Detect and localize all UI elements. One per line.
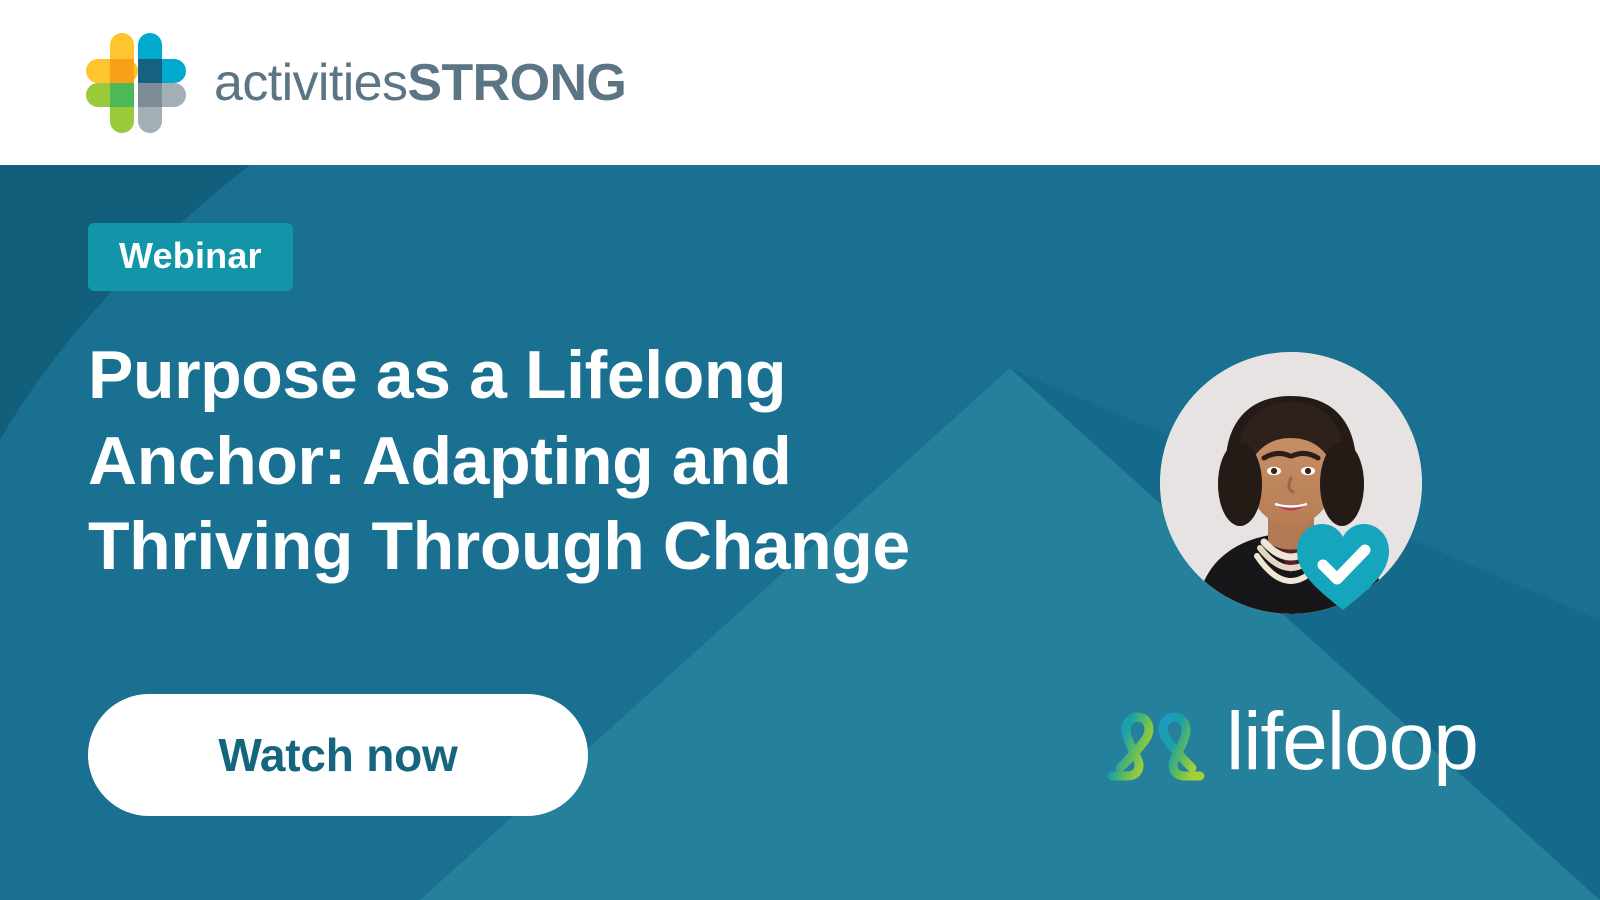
lifeloop-logo[interactable]: lifeloop <box>1104 707 1536 787</box>
activities-strong-quadrant-logo-icon <box>84 31 188 135</box>
headline-line-1: Purpose as a Lifelong <box>88 333 910 419</box>
wordmark-light-part: activities <box>214 54 407 112</box>
webinar-promo-banner: activitiesSTRONG <box>0 0 1600 900</box>
hero-content: Webinar Purpose as a Lifelong Anchor: Ad… <box>88 165 910 816</box>
header-bar: activitiesSTRONG <box>0 0 1600 165</box>
headline-line-2: Anchor: Adapting and <box>88 419 910 505</box>
heart-check-icon <box>1295 520 1391 612</box>
lifeloop-wordmark: lifeloop <box>1226 707 1536 787</box>
activities-strong-wordmark: activitiesSTRONG <box>214 57 626 109</box>
speaker-avatar <box>1160 352 1422 614</box>
lifeloop-double-loop-icon <box>1104 710 1208 784</box>
hero-section: lifeloop Webinar Purpose as a Lifelong A… <box>0 165 1600 900</box>
page-title: Purpose as a Lifelong Anchor: Adapting a… <box>88 333 910 590</box>
watch-now-button[interactable]: Watch now <box>88 694 588 816</box>
activities-strong-brand-lockup[interactable]: activitiesSTRONG <box>84 31 626 135</box>
svg-text:lifeloop: lifeloop <box>1226 707 1478 787</box>
wordmark-bold-part: STRONG <box>407 54 626 112</box>
status-badge: Webinar <box>88 223 293 291</box>
headline-line-3: Thriving Through Change <box>88 504 910 590</box>
